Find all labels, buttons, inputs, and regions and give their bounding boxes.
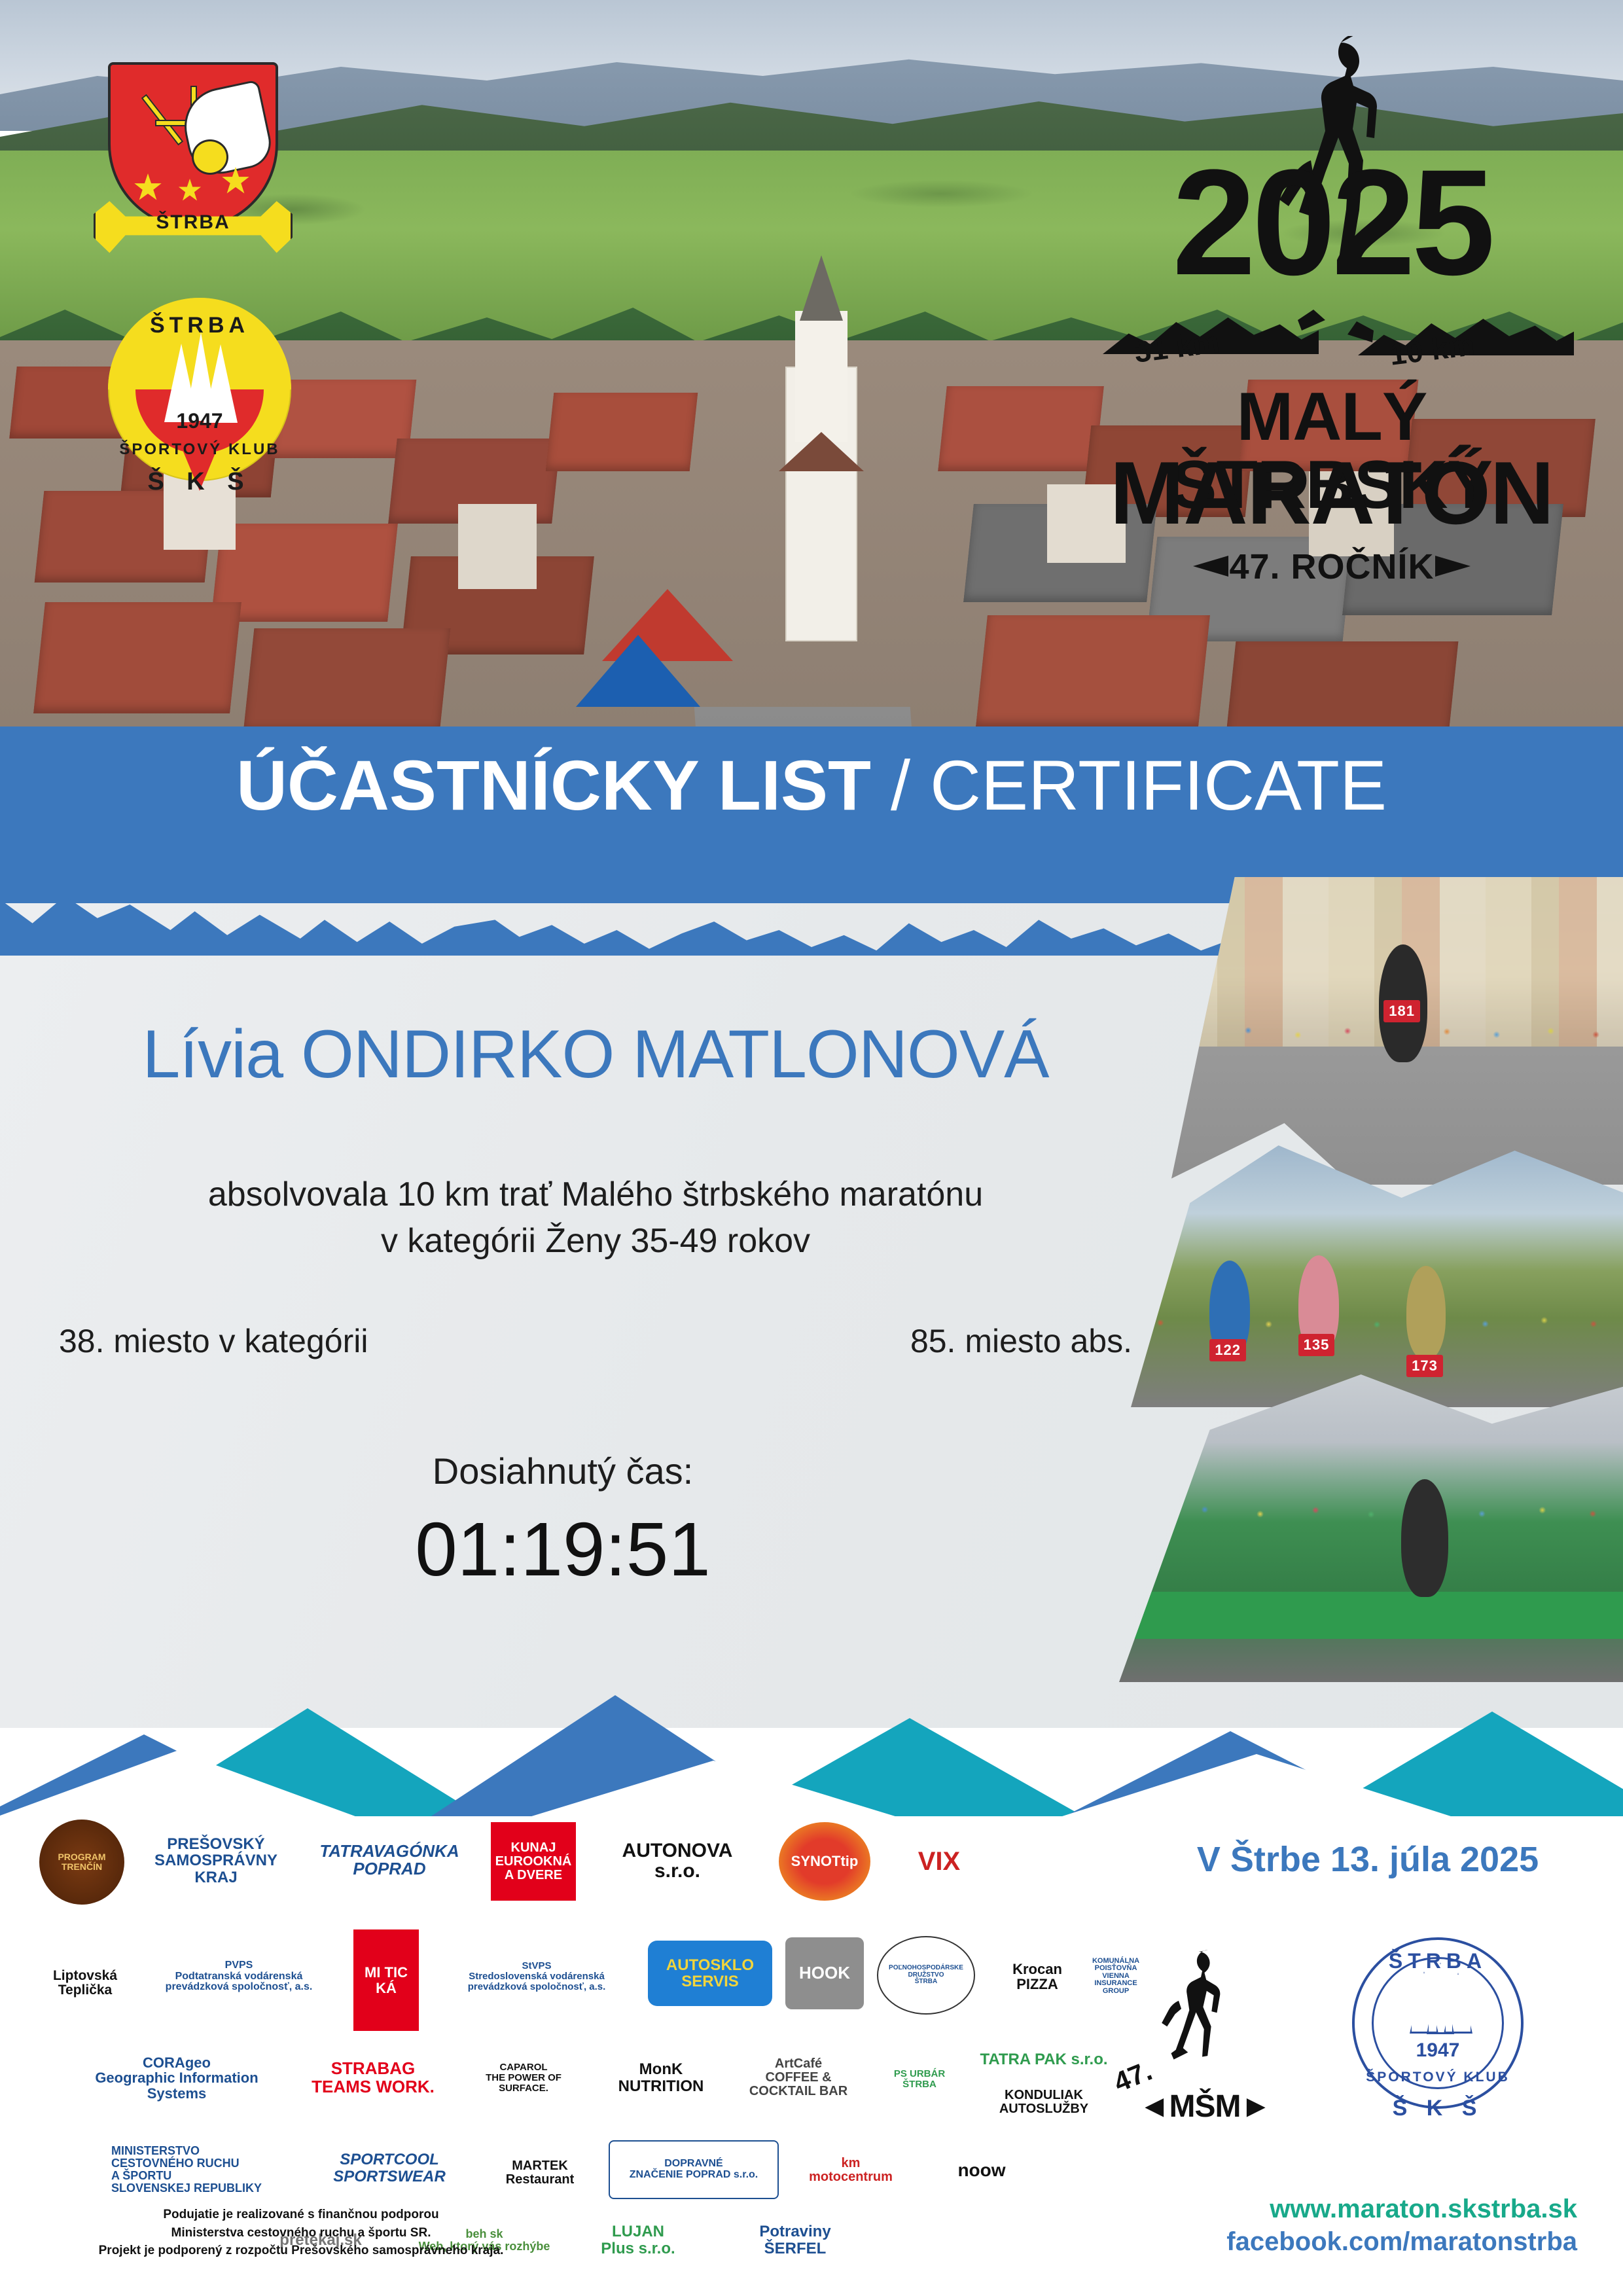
placement-row: 38. miesto v kategórii 85. miesto abs.: [59, 1322, 1132, 1360]
sponsor-logo[interactable]: KrocanPIZZA: [988, 1937, 1086, 2016]
photo3-spectators: [1119, 1498, 1623, 1528]
race-road: [694, 707, 935, 726]
sponsor-logo[interactable]: MonKNUTRITION: [602, 2043, 720, 2112]
distance-row: 31 km 10 km: [1077, 298, 1587, 376]
arrow-right-icon: [1435, 556, 1471, 577]
photo-collage: 181 122 135 173: [1099, 877, 1623, 1721]
disclaimer-line-2: Ministerstva cestovného ruchu a športu S…: [52, 2224, 550, 2242]
msm-runner-icon: [1145, 1921, 1257, 2091]
church-tower: [795, 311, 847, 442]
sponsor-logo[interactable]: TATRAVAGÓNKAPOPRAD: [308, 1827, 471, 1893]
sponsor-logo[interactable]: PS URBÁRŠTRBA: [877, 2043, 962, 2115]
sks-club-logo: ŠTRBA 1947 ŠPORTOVÝ KLUB Š K Š: [101, 281, 298, 491]
sponsor-logo[interactable]: noow: [929, 2139, 1034, 2201]
sponsor-logo[interactable]: MINISTERSTVOCESTOVNÉHO RUCHUA ŠPORTUSLOV…: [79, 2127, 294, 2212]
photo-road-runners: 122 135 173: [1131, 1145, 1623, 1407]
event-name-line2: MARATÓN: [1077, 448, 1587, 537]
title-band-text: ÚČASTNÍCKY LIST / CERTIFICATE: [0, 750, 1623, 821]
disclaimer-line-1: Podujatie je realizované s finančnou pod…: [52, 2206, 550, 2224]
sks-stamp-bottom-label: ŠPORTOVÝ KLUB: [1352, 2070, 1524, 2085]
bib-runner-c: 173: [1406, 1355, 1443, 1377]
sponsor-logo[interactable]: VIX: [890, 1822, 988, 1901]
facebook-link[interactable]: facebook.com/maratonstrba: [1145, 2225, 1577, 2258]
photo2-runner-c: [1406, 1266, 1446, 1359]
event-logo: 2025 31 km 10 km MALÝ ŠTRBSKÝ MARATÓN 47…: [1077, 36, 1587, 612]
sponsor-logo[interactable]: KONDULIAKAUTOSLUŽBY: [969, 2083, 1119, 2122]
certificate-description: absolvovala 10 km trať Malého štrbského …: [52, 1172, 1139, 1264]
photo-finish-line: [1119, 1374, 1623, 1682]
photo3-finish-banner: [1119, 1592, 1623, 1639]
church-spire: [800, 255, 843, 321]
photo-finisher: 181: [1171, 877, 1623, 1185]
sponsor-logo[interactable]: DOPRAVNÉZNAČENIE POPRAD s.r.o.: [609, 2140, 779, 2199]
title-bold-part: ÚČASTNÍCKY LIST: [236, 745, 871, 825]
website-link[interactable]: www.maraton.skstrba.sk: [1145, 2193, 1577, 2225]
sks-top-label: ŠTRBA: [108, 313, 291, 338]
sponsor-logo[interactable]: AUTONOVAs.r.o.: [596, 1825, 759, 1897]
time-label: Dosiahnutý čas:: [52, 1450, 1073, 1492]
msm-stamp: 47. ◄MŠM►: [1119, 1921, 1283, 2117]
sponsor-logo[interactable]: LiptovskáTeplička: [39, 1934, 131, 2032]
sponsor-logo[interactable]: POĽNOHOSPODÁRSKE DRUŽSTVOŠTRBA: [877, 1936, 975, 2015]
sks-stamp-top-label: ŠTRBA: [1352, 1949, 1524, 1973]
sponsor-logo[interactable]: AUTOSKLOSERVIS: [648, 1941, 772, 2006]
funding-disclaimer: Podujatie je realizované s finančnou pod…: [52, 2206, 550, 2260]
date-line: V Štrbe 13. júla 2025: [1158, 1839, 1577, 1880]
sponsor-logo[interactable]: CORAgeoGeographic Information Systems: [79, 2042, 275, 2114]
time-value: 01:19:51: [52, 1505, 1073, 1593]
sponsor-logo[interactable]: PROGRAMTRENČÍN: [39, 1820, 124, 1905]
sponsor-logo[interactable]: PREŠOVSKÝSAMOSPRÁVNYKRAJ: [141, 1825, 291, 1897]
sks-bottom-label: ŠPORTOVÝ KLUB: [108, 440, 291, 459]
bib-runner-b: 135: [1298, 1334, 1335, 1356]
sponsor-logo[interactable]: LUJANPlus s.r.o.: [576, 2209, 700, 2271]
header-photo: ŠTART ŠTRBA ŠTRBA 1947 ŠPORTOVÝ KLUB Š K…: [0, 0, 1623, 726]
sks-year-label: 1947: [108, 409, 291, 433]
sponsor-logo[interactable]: MARTEKRestaurant: [484, 2140, 596, 2206]
bib-finisher: 181: [1383, 1000, 1420, 1022]
sponsor-logo[interactable]: STRABAGTEAMS WORK.: [301, 2043, 445, 2112]
crest-banner-label: ŠTRBA: [108, 211, 278, 234]
sponsor-logo[interactable]: CAPAROLTHE POWER OF SURFACE.: [465, 2042, 582, 2114]
sponsor-logo[interactable]: KUNAJEUROOKNÁ A DVERE: [491, 1822, 576, 1901]
event-edition: 47. ROČNÍK: [1077, 547, 1587, 587]
sponsor-logo[interactable]: PVPSPodtatranská vodárenskáprevádzková s…: [144, 1937, 334, 2016]
sponsor-logo[interactable]: SYNOTtip: [779, 1822, 870, 1901]
description-line-1: absolvovala 10 km trať Malého štrbského …: [52, 1172, 1139, 1218]
sponsor-logo[interactable]: StVPSStredoslovenská vodárenskáprevádzko…: [438, 1937, 635, 2016]
distance-long-label: 31 km: [1132, 324, 1221, 369]
crest-stars: [130, 167, 258, 206]
participant-name: Lívia ONDIRKO MATLONOVÁ: [33, 1016, 1158, 1094]
distance-short-label: 10 km: [1387, 327, 1476, 372]
sponsor-logo[interactable]: MI TIC KÁ: [353, 1929, 419, 2031]
contact-links: www.maraton.skstrba.sk facebook.com/mara…: [1145, 2193, 1577, 2258]
sponsor-logo[interactable]: SPORTCOOLSPORTSWEAR: [308, 2134, 471, 2202]
description-line-2: v kategórii Ženy 35-49 rokov: [52, 1218, 1139, 1265]
title-normal-part: / CERTIFICATE: [871, 745, 1387, 825]
sponsor-logo[interactable]: ArtCaféCOFFEE & COCKTAIL BAR: [733, 2043, 864, 2112]
sks-abbrev-label: Š K Š: [108, 468, 291, 496]
sponsor-logo[interactable]: TATRA PAK s.r.o.: [969, 2037, 1119, 2083]
msm-abbrev-label: ◄MŠM►: [1139, 2089, 1271, 2125]
event-year: 2025: [1077, 147, 1587, 298]
sks-stamp-abbrev-label: Š K Š: [1352, 2096, 1524, 2121]
strba-coat-of-arms: ŠTRBA: [108, 62, 278, 265]
photo3-runner: [1401, 1479, 1448, 1597]
sponsor-grid: PROGRAMTRENČÍN PREŠOVSKÝSAMOSPRÁVNYKRAJ …: [39, 1813, 1139, 2238]
sponsor-logo[interactable]: PotravinyŠERFEL: [720, 2209, 870, 2271]
sks-blue-stamp: ŠTRBA 1947 ŠPORTOVÝ KLUB Š K Š: [1342, 1918, 1538, 2127]
sponsor-logo[interactable]: kmmotocentrum: [792, 2138, 910, 2203]
sks-stamp-year-label: 1947: [1352, 2039, 1524, 2062]
disclaimer-line-3: Projekt je podporený z rozpočtu Prešovsk…: [52, 2242, 550, 2260]
bib-runner-a: 122: [1209, 1339, 1246, 1361]
photo2-runners: [1131, 1308, 1623, 1338]
sponsor-logo[interactable]: HOOK: [785, 1937, 864, 2009]
place-category: 38. miesto v kategórii: [59, 1322, 368, 1360]
